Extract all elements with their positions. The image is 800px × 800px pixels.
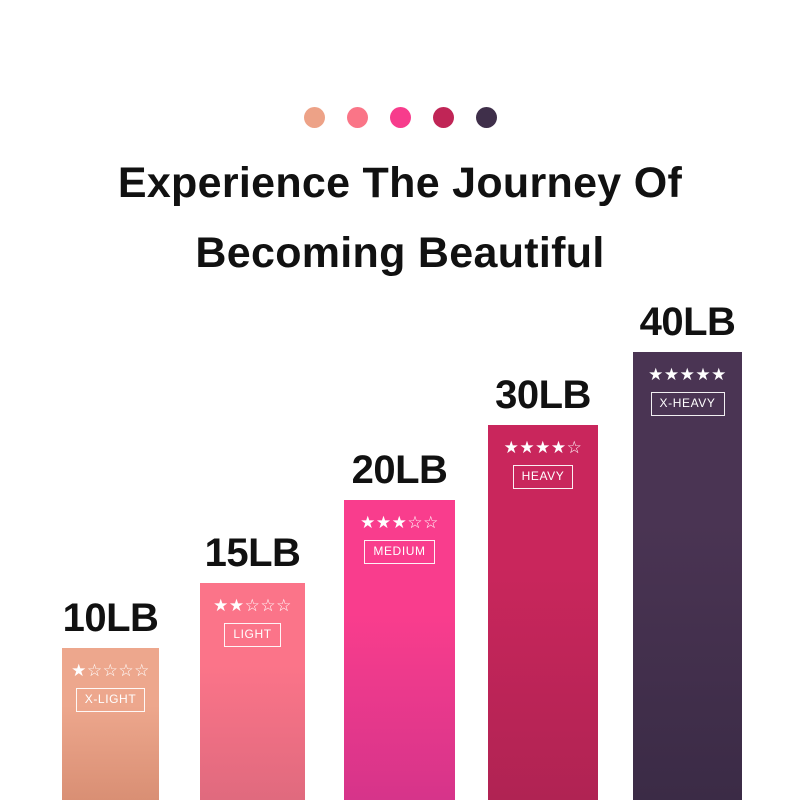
star-rating-icon: ★★☆☆☆ — [213, 597, 292, 616]
resistance-level-badge: HEAVY — [513, 465, 574, 489]
bar-column[interactable]: ★★★★★X-HEAVY — [633, 352, 742, 800]
star-rating-icon: ★☆☆☆☆ — [71, 662, 150, 681]
bar-content: ★☆☆☆☆X-LIGHT — [62, 662, 159, 712]
bar-group-10lb[interactable]: 10LB★☆☆☆☆X-LIGHT — [62, 648, 159, 800]
bar-content: ★★☆☆☆LIGHT — [200, 597, 305, 647]
bar-column[interactable]: ★★☆☆☆LIGHT — [200, 583, 305, 800]
bar-content: ★★★★☆HEAVY — [488, 439, 598, 489]
resistance-band-bar-chart: 10LB★☆☆☆☆X-LIGHT15LB★★☆☆☆LIGHT20LB★★★☆☆M… — [0, 0, 800, 800]
bar-column[interactable]: ★★★☆☆MEDIUM — [344, 500, 455, 800]
bar-weight-label: 10LB — [62, 596, 159, 640]
bar-group-30lb[interactable]: 30LB★★★★☆HEAVY — [488, 425, 598, 800]
bar-weight-label: 40LB — [633, 300, 742, 344]
resistance-level-badge: X-LIGHT — [76, 688, 146, 712]
bar-content: ★★★★★X-HEAVY — [633, 366, 742, 416]
resistance-level-badge: X-HEAVY — [651, 392, 725, 416]
resistance-level-badge: MEDIUM — [364, 540, 434, 564]
bar-group-20lb[interactable]: 20LB★★★☆☆MEDIUM — [344, 500, 455, 800]
star-rating-icon: ★★★☆☆ — [360, 514, 439, 533]
bar-weight-label: 30LB — [488, 373, 598, 417]
bar-weight-label: 20LB — [344, 448, 455, 492]
star-rating-icon: ★★★★☆ — [504, 439, 583, 458]
bar-content: ★★★☆☆MEDIUM — [344, 514, 455, 564]
bar-column[interactable]: ★☆☆☆☆X-LIGHT — [62, 648, 159, 800]
star-rating-icon: ★★★★★ — [648, 366, 727, 385]
bar-group-40lb[interactable]: 40LB★★★★★X-HEAVY — [633, 352, 742, 800]
bar-group-15lb[interactable]: 15LB★★☆☆☆LIGHT — [200, 583, 305, 800]
bar-column[interactable]: ★★★★☆HEAVY — [488, 425, 598, 800]
resistance-level-badge: LIGHT — [224, 623, 280, 647]
bar-weight-label: 15LB — [200, 531, 305, 575]
product-infographic-page: Experience The Journey Of Becoming Beaut… — [0, 0, 800, 800]
